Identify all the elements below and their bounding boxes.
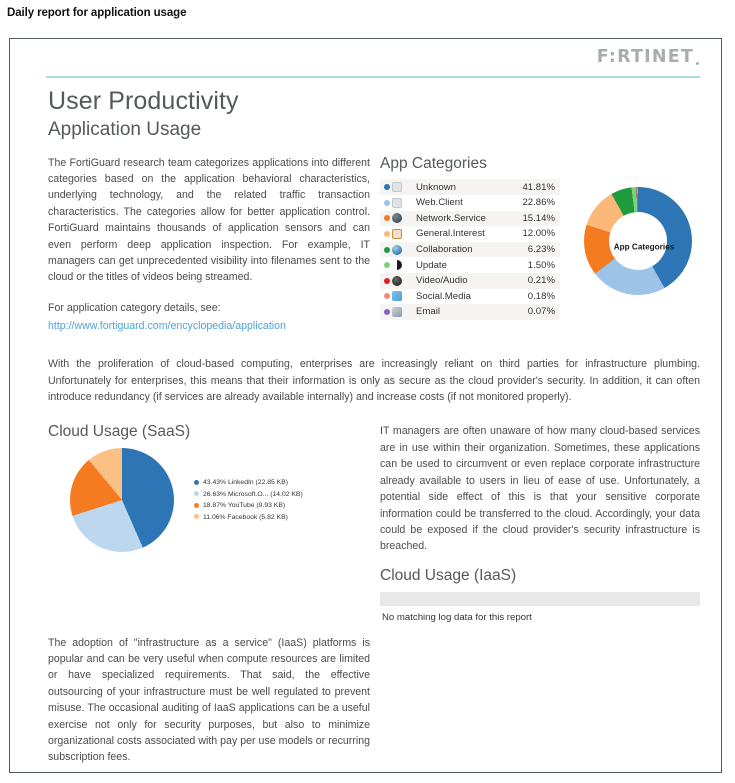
fortiguard-encyclopedia-link[interactable]: http://www.fortiguard.com/encyclopedia/a… [48, 320, 286, 332]
page-caption: Daily report for application usage [0, 0, 735, 19]
category-name-cell: Collaboration [413, 242, 509, 258]
legend-color-dot-icon [384, 215, 390, 221]
legend-label: 26.63% Microsoft.O... (14.02 KB) [203, 491, 303, 498]
category-icons-cell [380, 273, 413, 289]
category-percent-cell: 1.50% [509, 257, 560, 273]
video-icon [392, 276, 402, 286]
category-name-cell: Web.Client [413, 195, 509, 211]
category-percent-cell: 12.00% [509, 226, 560, 242]
category-name-cell: Social.Media [413, 289, 509, 305]
globe-icon [392, 213, 402, 223]
legend-label: 43.43% LinkedIn (22.85 KB) [203, 479, 288, 486]
category-name-cell: Update [413, 257, 509, 273]
category-name-cell: General.Interest [413, 226, 509, 242]
list-item: 43.43% LinkedIn (22.85 KB) [194, 477, 303, 489]
glass-icon [392, 182, 402, 192]
section-title-application-usage: Application Usage [48, 119, 721, 141]
category-icons-cell [380, 257, 413, 273]
category-icons-cell [380, 304, 413, 320]
legend-color-dot-icon [384, 262, 390, 268]
table-row[interactable]: General.Interest12.00% [380, 226, 560, 242]
legend-color-dot-icon [194, 503, 199, 508]
list-item: 26.63% Microsoft.O... (14.02 KB) [194, 489, 303, 501]
list-item: 18.87% YouTube (9.93 KB) [194, 500, 303, 512]
cloud-saas-chart-column: Cloud Usage (SaaS) 43.43% LinkedIn (22.8… [48, 423, 370, 622]
mail-icon [392, 307, 402, 317]
collab-icon [392, 245, 402, 255]
donut-center-label: App Categories [584, 242, 704, 251]
iaas-paragraph: The adoption of "infrastructure as a ser… [48, 635, 370, 766]
category-name-cell: Email [413, 304, 509, 320]
legend-color-dot-icon [384, 247, 390, 253]
category-percent-cell: 41.81% [509, 179, 560, 195]
table-row[interactable]: Video/Audio0.21% [380, 273, 560, 289]
table-row[interactable]: Social.Media0.18% [380, 289, 560, 305]
category-icons-cell [380, 289, 413, 305]
legend-color-dot-icon [384, 309, 390, 315]
cloud-saas-title: Cloud Usage (SaaS) [48, 423, 370, 441]
category-icons-cell [380, 211, 413, 227]
category-name-cell: Unknown [413, 179, 509, 195]
table-row[interactable]: Email0.07% [380, 304, 560, 320]
application-usage-paragraph: The FortiGuard research team categorizes… [48, 155, 370, 286]
legend-color-dot-icon [384, 293, 390, 299]
cloud-iaas-table-header [380, 592, 700, 606]
glass-icon [392, 198, 402, 208]
app-categories-title: App Categories [380, 155, 700, 173]
cloud-saas-text-column: IT managers are often unaware of how man… [380, 423, 700, 622]
fortinet-logo-text: F:RTINET [597, 49, 694, 67]
title-block: User Productivity Application Usage [10, 81, 721, 141]
legend-color-dot-icon [384, 200, 390, 206]
category-name-cell: Network.Service [413, 211, 509, 227]
iaas-text-row: The adoption of "infrastructure as a ser… [10, 635, 721, 766]
header-divider [46, 76, 700, 78]
category-icons-cell [380, 195, 413, 211]
legend-color-dot-icon [194, 491, 199, 496]
saas-pie-slices [70, 448, 174, 552]
legend-color-dot-icon [384, 278, 390, 284]
update-icon [392, 260, 402, 270]
table-row[interactable]: Update1.50% [380, 257, 560, 273]
cloud-iaas-panel: Cloud Usage (IaaS) No matching log data … [380, 567, 700, 623]
category-name-cell: Video/Audio [413, 273, 509, 289]
legend-color-dot-icon [194, 480, 199, 485]
fortinet-logo-dot [696, 62, 699, 65]
category-icons-cell [380, 179, 413, 195]
cloud-iaas-title: Cloud Usage (IaaS) [380, 567, 700, 585]
link-lead-text: For application category details, see: [48, 300, 370, 316]
doc-icon [392, 229, 402, 239]
list-item: 11.06% Facebook (5.82 KB) [194, 512, 303, 524]
application-usage-row: The FortiGuard research team categorizes… [10, 155, 721, 335]
legend-color-dot-icon [194, 514, 199, 519]
category-icons-cell [380, 242, 413, 258]
legend-color-dot-icon [384, 184, 390, 190]
report-header: F:RTINET [10, 39, 721, 81]
page-title: User Productivity [48, 87, 721, 116]
app-categories-panel: App Categories Unknown41.81%Web.Client22… [380, 155, 700, 335]
legend-label: 11.06% Facebook (5.82 KB) [203, 514, 288, 521]
donut-ring [584, 187, 692, 295]
cloud-saas-row: Cloud Usage (SaaS) 43.43% LinkedIn (22.8… [10, 423, 721, 622]
category-percent-cell: 22.86% [509, 195, 560, 211]
legend-label: 18.87% YouTube (9.93 KB) [203, 502, 285, 509]
category-icons-cell [380, 226, 413, 242]
table-row[interactable]: Web.Client22.86% [380, 195, 560, 211]
social-icon [392, 291, 402, 301]
application-usage-text-column: The FortiGuard research team categorizes… [48, 155, 370, 335]
app-categories-table: Unknown41.81%Web.Client22.86%Network.Ser… [380, 179, 560, 319]
category-percent-cell: 0.07% [509, 304, 560, 320]
category-percent-cell: 0.21% [509, 273, 560, 289]
category-percent-cell: 6.23% [509, 242, 560, 258]
table-row[interactable]: Unknown41.81% [380, 179, 560, 195]
category-percent-cell: 0.18% [509, 289, 560, 305]
table-row[interactable]: Collaboration6.23% [380, 242, 560, 258]
table-row[interactable]: Network.Service15.14% [380, 211, 560, 227]
fortinet-logo: F:RTINET [597, 49, 699, 66]
saas-pie-legend: 43.43% LinkedIn (22.85 KB)26.63% Microso… [194, 477, 303, 523]
cloud-saas-paragraph: IT managers are often unaware of how man… [380, 423, 700, 554]
report-frame: F:RTINET User Productivity Application U… [9, 38, 722, 773]
iaas-text-column: The adoption of "infrastructure as a ser… [48, 635, 370, 766]
cloud-intro-paragraph: With the proliferation of cloud-based co… [48, 356, 700, 405]
cloud-iaas-empty-message: No matching log data for this report [380, 606, 700, 623]
cloud-intro-block: With the proliferation of cloud-based co… [10, 334, 721, 405]
cloud-saas-chart: 43.43% LinkedIn (22.85 KB)26.63% Microso… [48, 448, 370, 552]
app-categories-donut-chart: App Categories [584, 187, 704, 307]
legend-color-dot-icon [384, 231, 390, 237]
category-percent-cell: 15.14% [509, 211, 560, 227]
